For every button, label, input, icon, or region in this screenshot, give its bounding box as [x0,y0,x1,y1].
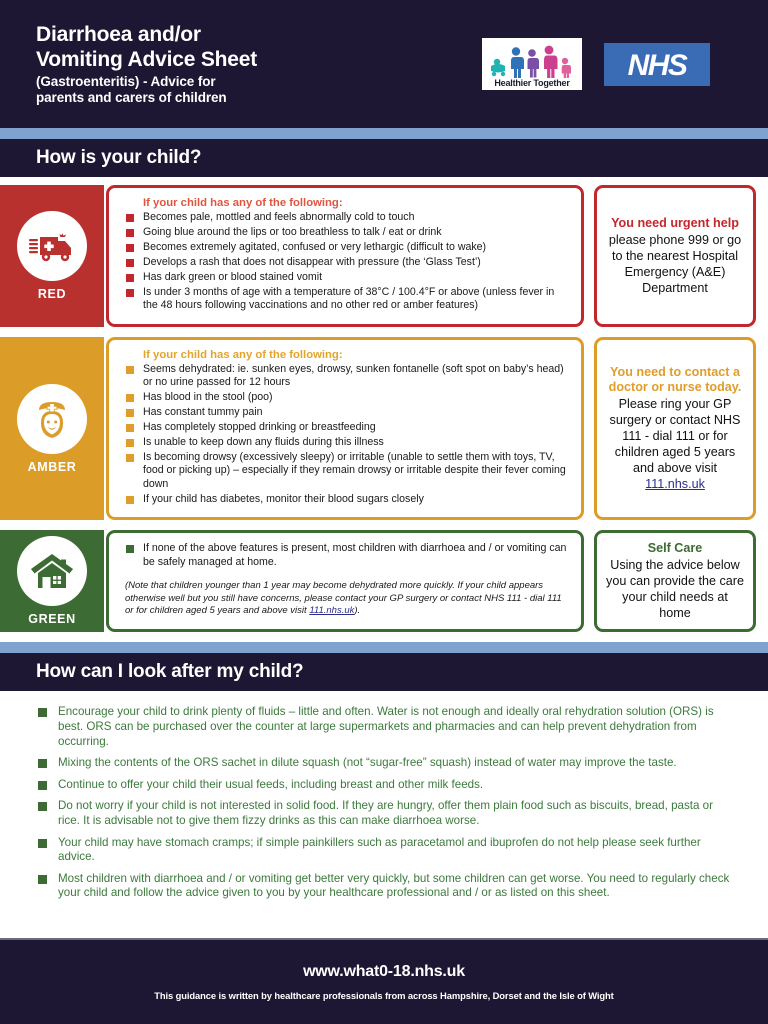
list-item: Seems dehydrated: ie. sunken eyes, drows… [125,363,569,390]
list-item: Your child may have stomach cramps; if s… [36,836,738,865]
green-icon-disc [17,536,87,606]
amber-action-panel: You need to contact a doctor or nurse to… [594,337,756,521]
traffic-light-group: RED If your child has any of the followi… [0,177,768,632]
section-banner-look-after: How can I look after my child? [0,653,768,691]
list-item: If your child has diabetes, monitor thei… [125,493,569,506]
red-badge-label: RED [38,287,66,301]
traffic-light-row-amber: AMBER If your child has any of the follo… [0,337,768,521]
amber-list-heading: If your child has any of the following: [125,349,569,361]
list-item: Is under 3 months of age with a temperat… [125,286,569,313]
subtitle-line-1: (Gastroenteritis) - Advice for [36,74,482,90]
house-icon [30,552,74,590]
list-item: Becomes pale, mottled and feels abnormal… [125,211,569,224]
list-item: Has dark green or blood stained vomit [125,271,569,284]
amber-action-title: You need to contact a doctor or nurse to… [605,365,745,395]
green-note: (Note that children younger than 1 year … [125,580,569,618]
traffic-light-row-red: RED If your child has any of the followi… [0,185,768,327]
healthier-together-label: Healthier Together [494,78,569,88]
list-item: If none of the above features is present… [125,542,569,569]
family-figures-icon [486,45,578,78]
red-symptom-panel: If your child has any of the following: … [106,185,584,327]
amber-action-link[interactable]: 111.nhs.uk [645,477,705,491]
list-item: Is becoming drowsy (excessively sleepy) … [125,451,569,491]
traffic-light-row-green: GREEN If none of the above features is p… [0,530,768,632]
nhs-wordmark-icon: NHS [609,48,705,81]
footer-credit: This guidance is written by healthcare p… [154,990,613,1001]
masthead: Diarrhoea and/or Vomiting Advice Sheet (… [0,0,768,128]
green-action-body: Using the advice below you can provide t… [605,557,745,621]
list-item: Most children with diarrhoea and / or vo… [36,872,738,901]
red-badge: RED [0,185,104,327]
green-advice-list: If none of the above features is present… [125,542,569,569]
footer-url[interactable]: www.what0-18.nhs.uk [303,963,465,981]
list-item: Develops a rash that does not disappear … [125,256,569,269]
list-item: Encourage your child to drink plenty of … [36,705,738,749]
green-action-panel: Self Care Using the advice below you can… [594,530,756,632]
list-item: Going blue around the lips or too breath… [125,226,569,239]
title-line-1: Diarrhoea and/or [36,22,482,47]
svg-text:NHS: NHS [628,49,688,81]
green-note-link[interactable]: 111.nhs.uk [309,605,354,616]
amber-badge-label: AMBER [28,460,77,474]
list-item: Has completely stopped drinking or breas… [125,421,569,434]
red-action-title: You need urgent help [611,216,739,231]
nhs-logo: NHS [604,43,710,86]
amber-icon-disc [17,384,87,454]
list-item: Has constant tummy pain [125,406,569,419]
red-symptom-list: Becomes pale, mottled and feels abnormal… [125,211,569,312]
green-badge-label: GREEN [28,612,75,626]
advice-list: Encourage your child to drink plenty of … [36,705,738,901]
section-banner-how-is-your-child: How is your child? [0,139,768,177]
healthier-together-logo: Healthier Together [482,38,582,90]
green-action-title: Self Care [648,541,703,556]
list-item: Continue to offer your child their usual… [36,778,738,793]
amber-action-body: Please ring your GP surgery or contact N… [605,396,745,492]
red-icon-disc [17,211,87,281]
amber-badge: AMBER [0,337,104,521]
list-item: Mixing the contents of the ORS sachet in… [36,756,738,771]
list-item: Has blood in the stool (poo) [125,391,569,404]
section2-accent-strip [0,642,768,653]
footer: www.what0-18.nhs.uk This guidance is wri… [0,938,768,1024]
red-list-heading: If your child has any of the following: [125,197,569,209]
amber-symptom-list: Seems dehydrated: ie. sunken eyes, drows… [125,363,569,506]
amber-symptom-panel: If your child has any of the following: … [106,337,584,521]
ambulance-icon [29,229,75,263]
list-item: Becomes extremely agitated, confused or … [125,241,569,254]
subtitle-line-2: parents and carers of children [36,90,482,106]
self-care-advice: Encourage your child to drink plenty of … [0,691,768,920]
green-advice-panel: If none of the above features is present… [106,530,584,632]
list-item: Is unable to keep down any fluids during… [125,436,569,449]
header-accent-strip [0,128,768,139]
red-action-body: please phone 999 or go to the nearest Ho… [605,232,745,296]
green-badge: GREEN [0,530,104,632]
green-note-tail: ). [354,605,360,616]
advice-sheet-page: Diarrhoea and/or Vomiting Advice Sheet (… [0,0,768,1024]
page-title: Diarrhoea and/or Vomiting Advice Sheet (… [36,22,482,106]
amber-action-text: Please ring your GP surgery or contact N… [610,397,741,475]
red-action-panel: You need urgent help please phone 999 or… [594,185,756,327]
list-item: Do not worry if your child is not intere… [36,799,738,828]
logo-group: Healthier Together NHS [482,38,710,90]
title-line-2: Vomiting Advice Sheet [36,47,482,72]
nurse-icon [31,398,73,440]
